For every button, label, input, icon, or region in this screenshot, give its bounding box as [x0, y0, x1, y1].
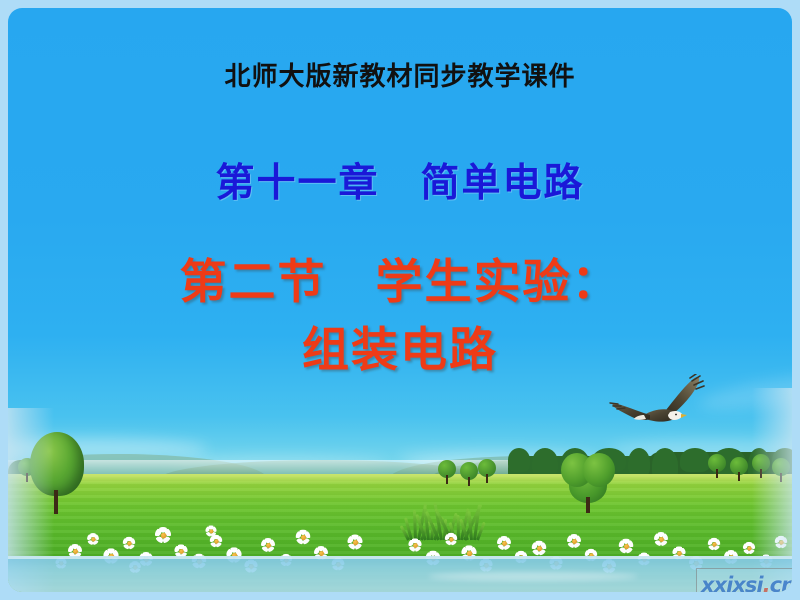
title-text-block: 北师大版新教材同步教学课件 第十一章 简单电路 第二节 学生实验： 组装电路	[8, 8, 792, 592]
section-title: 第二节 学生实验：	[8, 258, 792, 307]
course-series-title: 北师大版新教材同步教学课件	[8, 64, 792, 91]
topic-title: 组装电路	[8, 326, 792, 375]
chapter-title: 第十一章 简单电路	[8, 163, 792, 204]
background-photo: xxjxsj.cn 北师大版新教材同步教学课件 第十一章 简单电路 第二节 学生…	[8, 8, 792, 592]
presentation-slide: xxjxsj.cn 北师大版新教材同步教学课件 第十一章 简单电路 第二节 学生…	[0, 0, 800, 600]
